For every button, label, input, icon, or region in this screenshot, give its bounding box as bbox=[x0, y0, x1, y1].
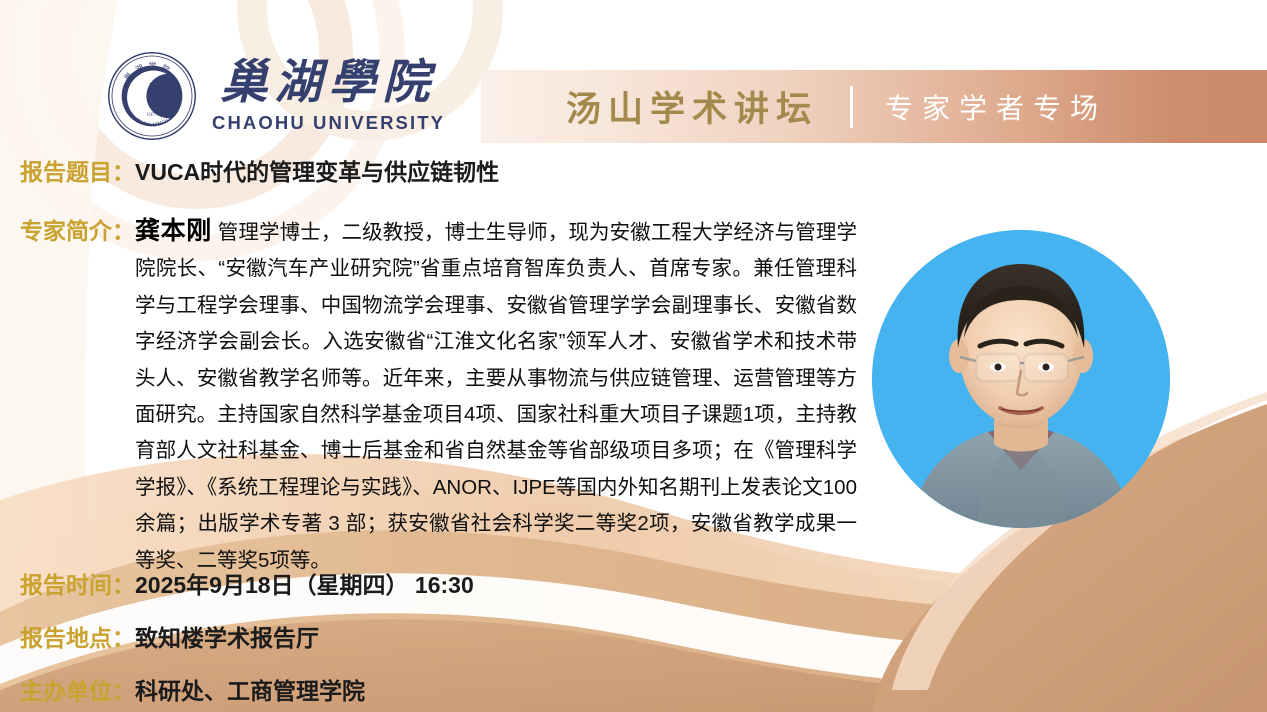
report-place-label: 报告地点： bbox=[20, 624, 135, 653]
speaker-bio-paragraph: 管理学博士，二级教授，博士生导师，现为安徽工程大学经济与管理学院院长、“安徽汽车… bbox=[135, 221, 857, 572]
report-time-label: 报告时间： bbox=[20, 571, 135, 600]
speaker-bio-label: 专家简介： bbox=[20, 213, 135, 249]
field-row-place: 报告地点： 致知楼学术报告厅 bbox=[20, 624, 319, 653]
organizer-label: 主办单位： bbox=[20, 677, 135, 706]
field-row-time: 报告时间： 2025年9月18日（星期四） 16:30 bbox=[20, 571, 474, 600]
report-time-value: 2025年9月18日（星期四） 16:30 bbox=[135, 571, 474, 600]
report-title-label: 报告题目： bbox=[20, 158, 135, 187]
organizer-value: 科研处、工商管理学院 bbox=[135, 677, 365, 706]
seminar-poster: 1977 巢湖学院 CHAOHU UNIVERSITY 巢湖學院 CHAOHU … bbox=[0, 0, 1267, 712]
speaker-bio-text: 龚本刚 管理学博士，二级教授，博士生导师，现为安徽工程大学经济与管理学院院长、“… bbox=[135, 213, 857, 579]
speaker-name: 龚本刚 bbox=[135, 217, 212, 245]
speaker-portrait bbox=[872, 230, 1170, 528]
field-row-organizer: 主办单位： 科研处、工商管理学院 bbox=[20, 677, 365, 706]
report-title-value: VUCA时代的管理变革与供应链韧性 bbox=[135, 158, 499, 187]
field-row-title: 报告题目： VUCA时代的管理变革与供应链韧性 bbox=[20, 158, 499, 187]
field-row-biography: 专家简介： 龚本刚 管理学博士，二级教授，博士生导师，现为安徽工程大学经济与管理… bbox=[20, 213, 880, 579]
report-place-value: 致知楼学术报告厅 bbox=[135, 624, 319, 653]
portrait-photo bbox=[872, 230, 1170, 528]
